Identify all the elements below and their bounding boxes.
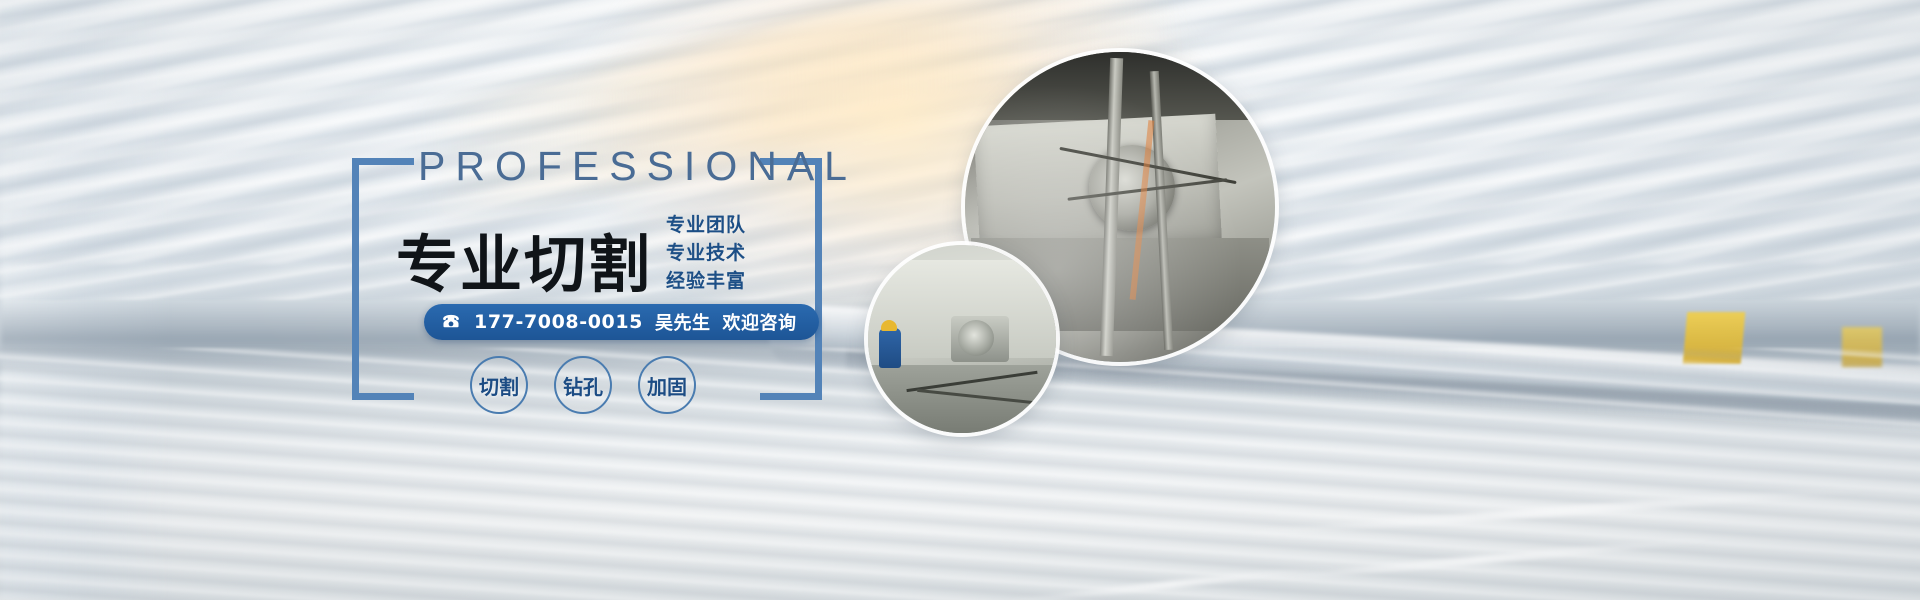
service-pill-group: 切割 钻孔 加固 xyxy=(470,356,696,414)
headline-row: 专业切割 专业团队 专业技术 经验丰富 xyxy=(396,214,746,297)
bracket-bottom-right-segment xyxy=(760,393,822,400)
photo-small-floor xyxy=(868,365,1056,433)
bracket-left-edge xyxy=(352,158,359,400)
contact-phone-bar[interactable]: 177-7008-0015 吴先生 欢迎咨询 xyxy=(424,304,819,340)
bracket-top-left-segment xyxy=(352,158,414,165)
kicker-text: PROFESSIONAL xyxy=(418,146,857,187)
contact-cta: 欢迎咨询 xyxy=(723,309,797,335)
hero-content: PROFESSIONAL 专业切割 专业团队 专业技术 经验丰富 177-700… xyxy=(352,158,822,400)
feature-item: 经验丰富 xyxy=(666,270,746,294)
service-pill-cutting[interactable]: 切割 xyxy=(470,356,528,414)
phone-number: 177-7008-0015 xyxy=(474,311,643,333)
hero-banner: PROFESSIONAL 专业切割 专业团队 专业技术 经验丰富 177-700… xyxy=(0,0,1920,600)
service-pill-reinforce[interactable]: 加固 xyxy=(638,356,696,414)
contact-name: 吴先生 xyxy=(655,309,711,335)
photo-small-worker xyxy=(879,328,901,368)
telephone-icon xyxy=(440,311,462,333)
photo-small-inner xyxy=(868,245,1056,433)
feature-list: 专业团队 专业技术 经验丰富 xyxy=(666,214,746,297)
bracket-bottom-left-segment xyxy=(352,393,414,400)
feature-item: 专业团队 xyxy=(666,214,746,238)
service-pill-drilling[interactable]: 钻孔 xyxy=(554,356,612,414)
photo-small-worker-helmet xyxy=(881,320,897,331)
bracket-right-edge xyxy=(815,158,822,400)
feature-item: 专业技术 xyxy=(666,242,746,266)
worker-wall-cutting-photo xyxy=(868,245,1056,433)
page-title: 专业切割 xyxy=(396,232,652,297)
